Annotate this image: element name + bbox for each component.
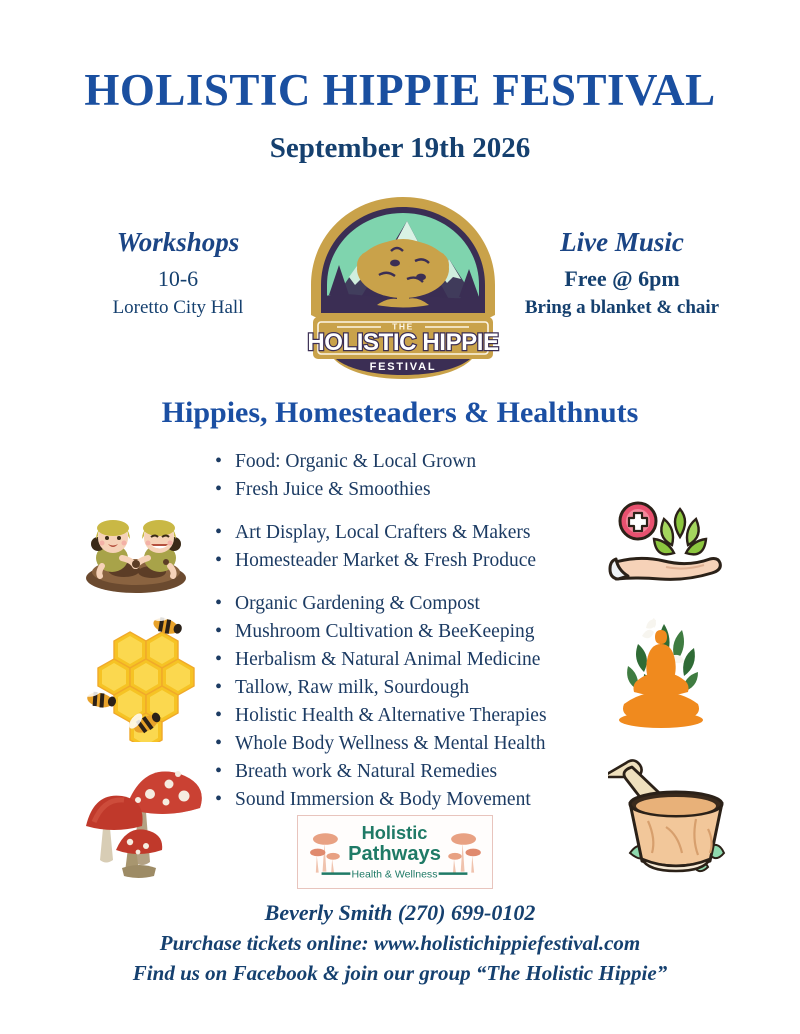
- list-item: Breath work & Natural Remedies: [213, 758, 633, 786]
- bullet-group: Art Display, Local Crafters & Makers Hom…: [213, 519, 633, 575]
- honeycomb-bees-icon: [74, 606, 200, 742]
- list-item: Art Display, Local Crafters & Makers: [213, 519, 633, 547]
- list-item: Mushroom Cultivation & BeeKeeping: [213, 618, 633, 646]
- mortar-pestle-icon: [608, 757, 744, 883]
- workshops-hours: 10-6: [38, 265, 318, 293]
- festival-flyer: HOLISTIC HIPPIE FESTIVAL September 19th …: [0, 0, 800, 1034]
- list-item: Fresh Juice & Smoothies: [213, 476, 633, 504]
- workshops-heading: Workshops: [38, 228, 318, 258]
- list-item: Tallow, Raw milk, Sourdough: [213, 674, 633, 702]
- badge-bottom-word: FESTIVAL: [370, 361, 437, 373]
- workshops-column: Workshops 10-6 Loretto City Hall: [38, 228, 318, 320]
- live-music-heading: Live Music: [482, 228, 762, 258]
- holistic-pathways-logo: Holistic Pathways Health & Wellness: [297, 815, 493, 889]
- footer-contact-block: Beverly Smith (270) 699-0102 Purchase ti…: [0, 898, 800, 988]
- pathways-line2: Pathways: [348, 843, 441, 865]
- bullet-group: Organic Gardening & Compost Mushroom Cul…: [213, 590, 633, 814]
- list-item: Organic Gardening & Compost: [213, 590, 633, 618]
- list-item: Food: Organic & Local Grown: [213, 448, 633, 476]
- list-item: Whole Body Wellness & Mental Health: [213, 730, 633, 758]
- live-music-column: Live Music Free @ 6pm Bring a blanket & …: [482, 228, 762, 320]
- page-section-heading: Hippies, Homesteaders & Healthnuts: [0, 398, 800, 428]
- live-music-note: Bring a blanket & chair: [482, 296, 762, 320]
- badge-main-line: HOLISTIC HIPPIE: [307, 329, 499, 356]
- live-music-price: Free @ 6pm: [482, 265, 762, 293]
- flyer-title: HOLISTIC HIPPIE FESTIVAL: [0, 68, 800, 113]
- list-item: Herbalism & Natural Animal Medicine: [213, 646, 633, 674]
- list-item: Homesteader Market & Fresh Produce: [213, 547, 633, 575]
- meditating-figure-icon: [598, 618, 724, 734]
- list-item: Sound Immersion & Body Movement: [213, 786, 633, 814]
- tickets-line[interactable]: Purchase tickets online: www.holistichip…: [0, 928, 800, 958]
- activities-list: Food: Organic & Local Grown Fresh Juice …: [213, 448, 633, 814]
- hand-holding-leaves-icon: [602, 497, 728, 593]
- workshops-venue: Loretto City Hall: [38, 296, 318, 320]
- mushrooms-icon: [74, 752, 210, 878]
- kids-playing-icon: [72, 492, 200, 596]
- pathways-tagline: Health & Wellness: [352, 868, 438, 880]
- list-item: Holistic Health & Alternative Therapies: [213, 702, 633, 730]
- bullet-group: Food: Organic & Local Grown Fresh Juice …: [213, 448, 633, 504]
- contact-line: Beverly Smith (270) 699-0102: [0, 898, 800, 928]
- festival-badge-logo: THE HOLISTIC HIPPIE FESTIVAL: [303, 193, 503, 385]
- flyer-date: September 19th 2026: [0, 134, 800, 163]
- social-line: Find us on Facebook & join our group “Th…: [0, 958, 800, 988]
- pathways-line1: Holistic: [362, 823, 428, 843]
